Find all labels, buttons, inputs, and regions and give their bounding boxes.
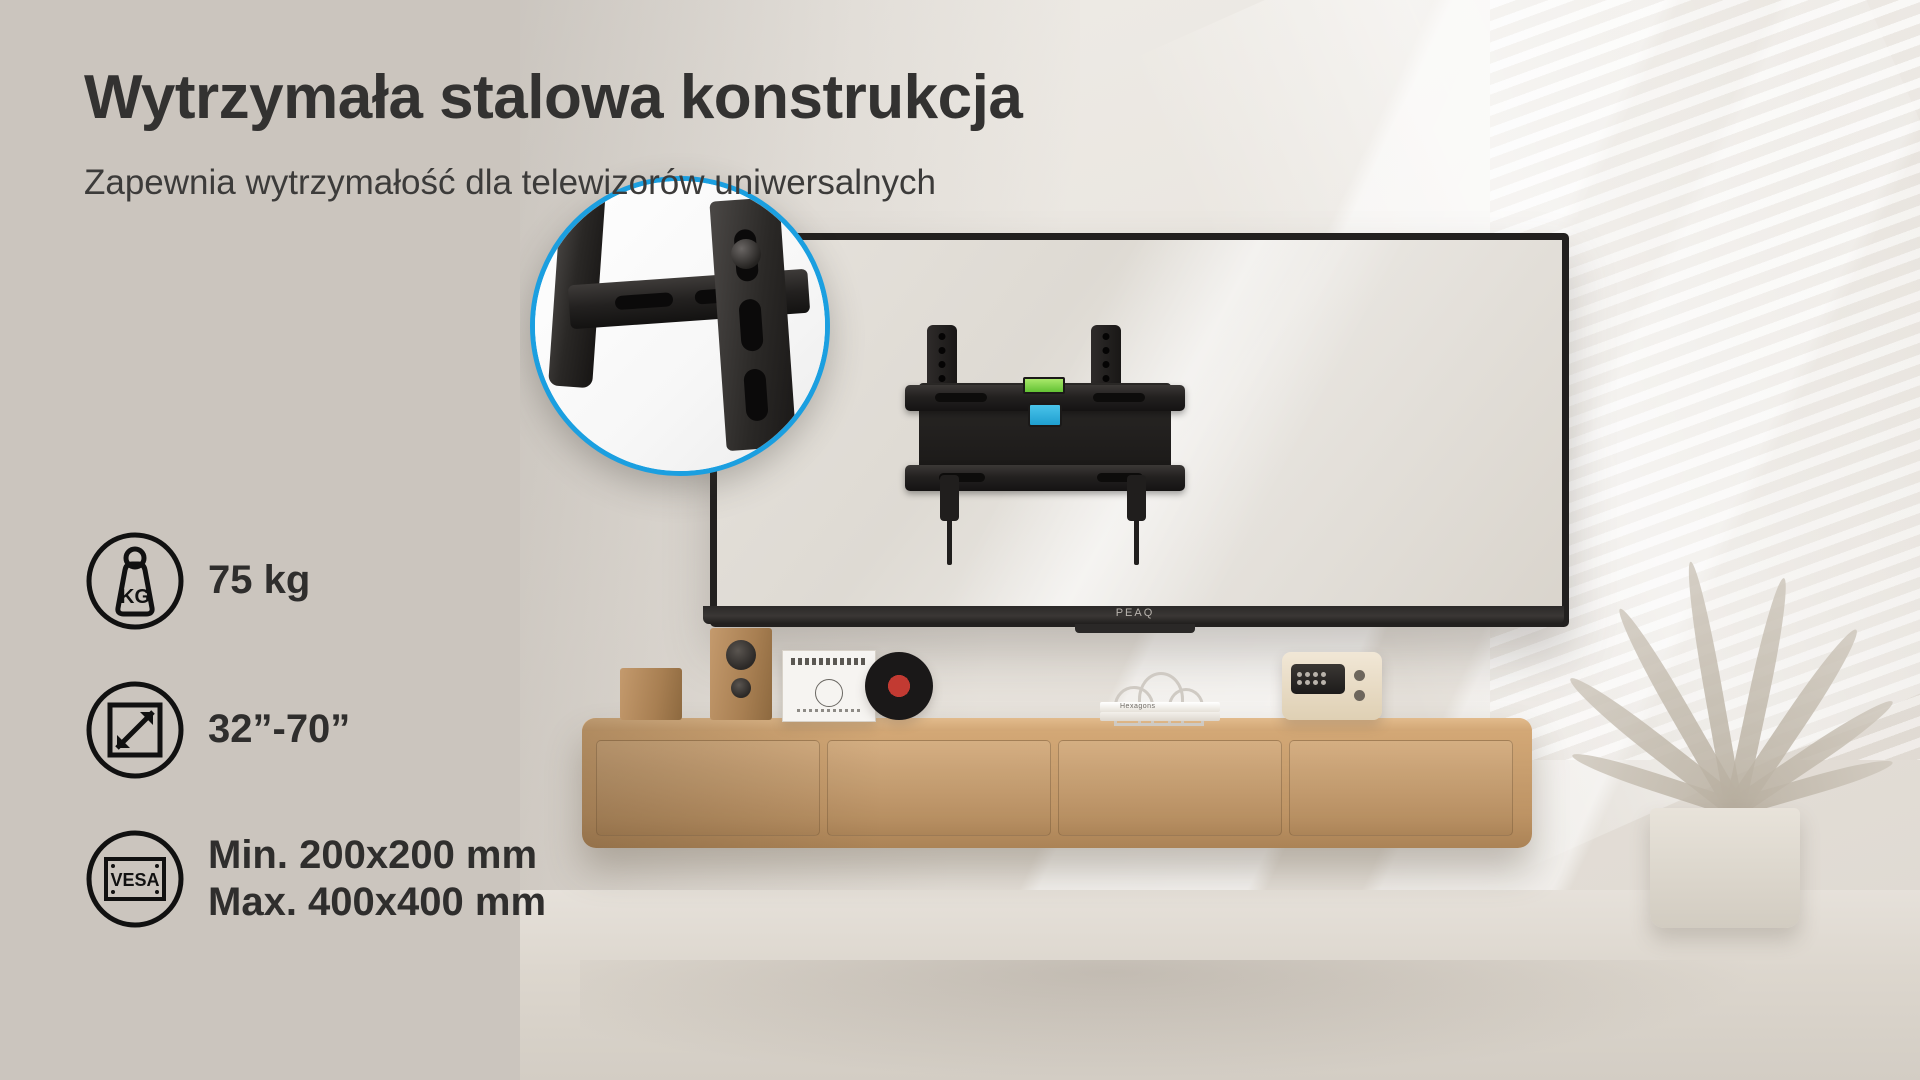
callout-plate-slot	[738, 298, 764, 351]
vesa-icon: VESA	[84, 828, 186, 930]
radio-grille-dot	[1313, 680, 1318, 685]
spec-list: KG 75 kg 32”-70”	[84, 530, 554, 977]
mount-rail-slot	[935, 393, 987, 402]
frame-circle-motif	[815, 679, 843, 707]
console-drawer	[1289, 740, 1513, 836]
retro-radio	[1282, 652, 1382, 720]
radio-grille-dot	[1313, 672, 1318, 677]
tv-stand	[1075, 624, 1195, 633]
spec-row-weight: KG 75 kg	[84, 530, 554, 632]
spec-row-vesa: VESA Min. 200x200 mm Max. 400x400 mm	[84, 828, 554, 930]
mount-release-cord-right	[1134, 493, 1139, 565]
picture-frame	[782, 650, 876, 722]
zoom-detail-callout	[530, 176, 830, 476]
product-feature-banner: PEAQ	[0, 0, 1920, 1080]
radio-speaker-grille	[1297, 672, 1326, 685]
weight-kg-icon: KG	[84, 530, 186, 632]
tv-wall-mount	[905, 325, 1185, 530]
screen-size-diagonal-icon	[84, 679, 186, 781]
bookshelf-speaker	[710, 628, 772, 720]
radio-grille-dot	[1321, 680, 1326, 685]
potted-plant	[1530, 368, 1920, 928]
plant-pot	[1650, 808, 1800, 928]
book-title-label: Hexagons	[1120, 703, 1156, 710]
mount-hole	[1103, 347, 1110, 354]
page-title: Wytrzymała stalowa konstrukcja	[84, 62, 1134, 133]
radio-display	[1291, 664, 1345, 694]
copy-column: Wytrzymała stalowa konstrukcja Zapewnia …	[0, 0, 560, 1080]
book-stack-top	[1100, 702, 1220, 712]
book-stack-bottom	[1100, 712, 1220, 721]
speaker-driver	[726, 640, 756, 670]
spec-vesa-max: Max. 400x400 mm	[208, 879, 546, 926]
radio-knob	[1354, 690, 1365, 701]
tv-brand-logo: PEAQ	[1075, 607, 1195, 619]
spec-vesa-min: Min. 200x200 mm	[208, 832, 546, 879]
radio-grille-dot	[1297, 680, 1302, 685]
page-subtitle: Zapewnia wytrzymałość dla telewizorów un…	[84, 163, 1184, 203]
media-console	[582, 718, 1532, 848]
console-drawer	[1058, 740, 1282, 836]
spec-row-screen-size: 32”-70”	[84, 679, 554, 781]
floor-shadow	[580, 960, 1760, 1080]
mount-hole	[939, 347, 946, 354]
mount-hole	[1103, 361, 1110, 368]
mount-lock-tab	[1028, 403, 1062, 427]
radio-grille-dot	[1297, 672, 1302, 677]
spec-value-screen-size: 32”-70”	[208, 706, 350, 753]
speaker-tweeter	[731, 678, 751, 698]
radio-grille-dot	[1321, 672, 1326, 677]
mount-hole	[1103, 375, 1110, 382]
console-shadow	[582, 718, 882, 848]
radio-knob	[1354, 670, 1365, 681]
spec-value-vesa: Min. 200x200 mm Max. 400x400 mm	[208, 832, 546, 926]
frame-bottom-text	[797, 709, 861, 712]
vinyl-record	[865, 652, 933, 720]
radio-grille-dot	[1305, 680, 1310, 685]
radio-grille-dot	[1305, 672, 1310, 677]
mount-hole	[939, 361, 946, 368]
mount-hole	[1103, 333, 1110, 340]
speaker-secondary	[620, 668, 682, 720]
frame-top-glyphs	[791, 658, 867, 665]
svg-text:VESA: VESA	[110, 870, 159, 890]
mount-rail-slot	[1093, 393, 1145, 402]
room-product-photo: PEAQ	[520, 0, 1920, 1080]
callout-bolt	[731, 239, 761, 269]
mount-release-cord-left	[947, 493, 952, 565]
callout-plate-slot	[743, 368, 769, 421]
bubble-level-indicator	[1023, 377, 1065, 394]
mount-hole	[939, 333, 946, 340]
mount-hole	[939, 375, 946, 382]
callout-rail-slot	[615, 292, 674, 310]
svg-text:KG: KG	[120, 586, 150, 608]
spec-value-weight: 75 kg	[208, 557, 310, 604]
